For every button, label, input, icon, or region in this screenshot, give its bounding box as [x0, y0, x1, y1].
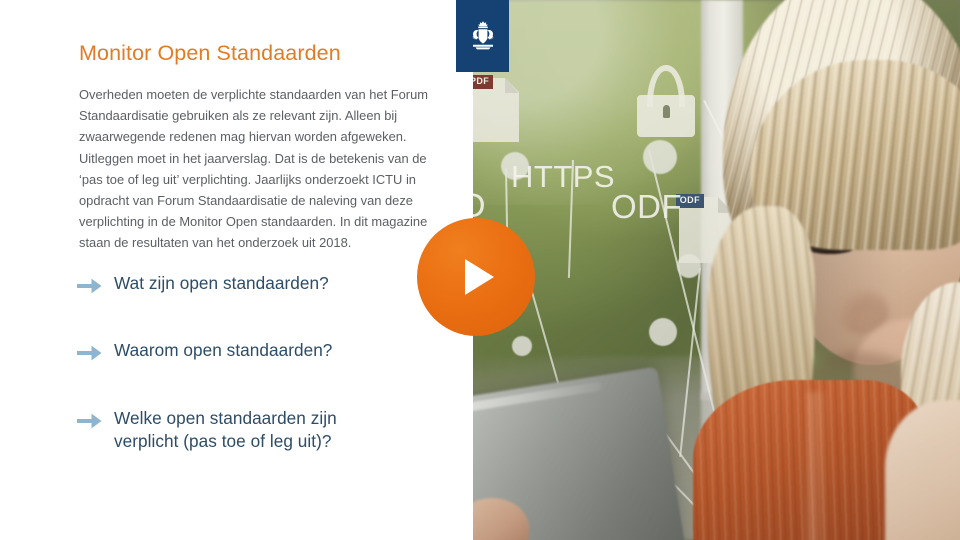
- play-button[interactable]: [417, 218, 535, 336]
- link-label: Wat zijn open standaarden?: [114, 272, 329, 295]
- link-label: Welke open standaarden zijn verplicht (p…: [114, 407, 337, 452]
- page-title: Monitor Open Standaarden: [79, 41, 341, 66]
- play-triangle-icon: [455, 257, 497, 297]
- rijksoverheid-coat-of-arms-logo: [464, 19, 502, 53]
- link-item-welke-open-standaarden-verplicht[interactable]: Welke open standaarden zijn verplicht (p…: [77, 407, 337, 452]
- arrow-right-icon: [77, 275, 103, 297]
- photo-composition: PDF ODF ID HTTPS ODF: [473, 0, 960, 540]
- link-item-wat-zijn-open-standaarden[interactable]: Wat zijn open standaarden?: [77, 272, 329, 297]
- link-item-waarom-open-standaarden[interactable]: Waarom open standaarden?: [77, 339, 332, 364]
- arrow-right-icon: [77, 342, 103, 364]
- arrow-right-icon: [77, 410, 103, 432]
- link-label: Waarom open standaarden?: [114, 339, 332, 362]
- rijksoverheid-logo-banner: [456, 0, 509, 72]
- text-panel: Monitor Open Standaarden Overheden moete…: [0, 0, 473, 540]
- cardigan-fold: [807, 392, 841, 540]
- video-poster[interactable]: PDF ODF ID HTTPS ODF: [473, 0, 960, 540]
- slide-root: PDF ODF ID HTTPS ODF: [0, 0, 960, 540]
- intro-paragraph: Overheden moeten de verplichte standaard…: [79, 84, 451, 254]
